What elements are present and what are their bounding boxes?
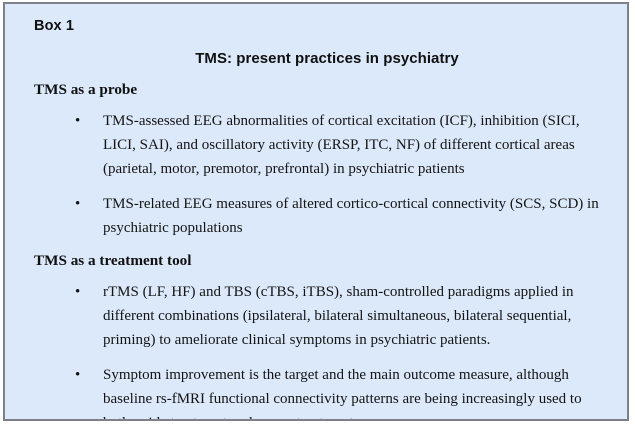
- list-item-text: Symptom improvement is the target and th…: [103, 363, 603, 421]
- bullet-point-icon: •: [75, 363, 87, 387]
- list-item-text: TMS-assessed EEG abnormalities of cortic…: [103, 109, 603, 181]
- list-item: • TMS-assessed EEG abnormalities of cort…: [34, 109, 617, 181]
- bullet-list: • rTMS (LF, HF) and TBS (cTBS, iTBS), sh…: [34, 280, 617, 421]
- box-container: Box 1 TMS: present practices in psychiat…: [3, 2, 629, 421]
- list-item: • rTMS (LF, HF) and TBS (cTBS, iTBS), sh…: [34, 280, 617, 352]
- bullet-list: • TMS-assessed EEG abnormalities of cort…: [34, 109, 617, 240]
- box-label: Box 1: [34, 18, 74, 34]
- bullet-point-icon: •: [75, 280, 87, 304]
- box-content: TMS as a probe • TMS-assessed EEG abnorm…: [34, 80, 617, 421]
- list-item-text: TMS-related EEG measures of altered cort…: [103, 192, 603, 240]
- list-item: • TMS-related EEG measures of altered co…: [34, 192, 617, 240]
- section-tms-as-a-probe: TMS as a probe • TMS-assessed EEG abnorm…: [34, 80, 617, 240]
- section-heading: TMS as a probe: [34, 80, 617, 100]
- bullet-point-icon: •: [75, 192, 87, 216]
- list-item-text: rTMS (LF, HF) and TBS (cTBS, iTBS), sham…: [103, 280, 603, 352]
- box-title: TMS: present practices in psychiatry: [5, 50, 627, 67]
- bullet-point-icon: •: [75, 109, 87, 133]
- section-heading: TMS as a treatment tool: [34, 251, 617, 271]
- section-tms-as-a-treatment-tool: TMS as a treatment tool • rTMS (LF, HF) …: [34, 251, 617, 421]
- list-item: • Symptom improvement is the target and …: [34, 363, 617, 421]
